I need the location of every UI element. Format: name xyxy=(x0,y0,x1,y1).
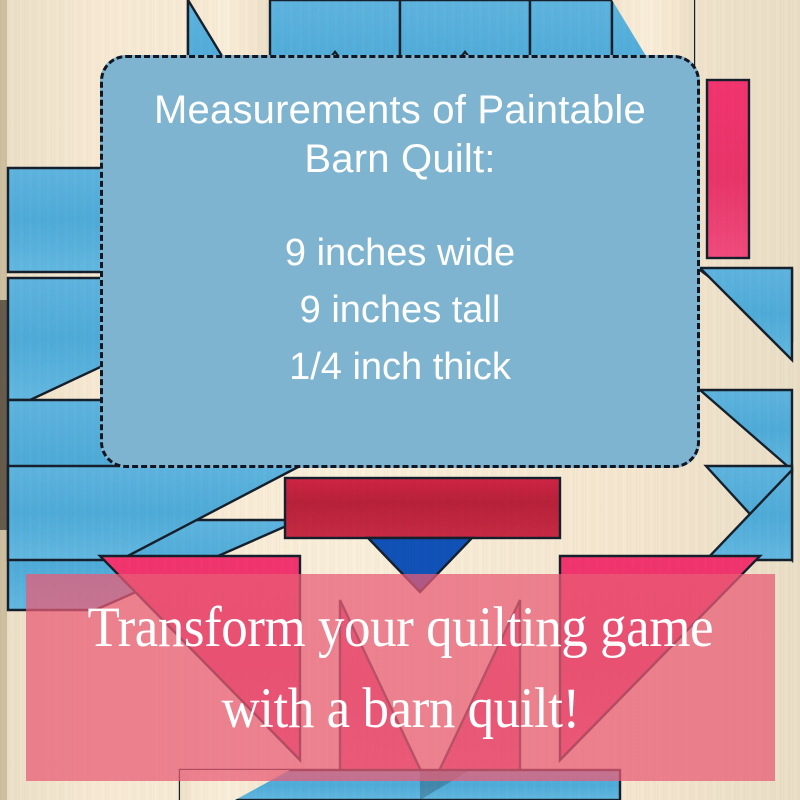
quilt-piece-pink-bar-right xyxy=(707,80,749,258)
measurement-width: 9 inches wide xyxy=(285,226,515,281)
info-card-title: Measurements of Paintable Barn Quilt: xyxy=(154,86,646,184)
promo-line-1: Transform your quilting game xyxy=(88,588,714,669)
measurements-list: 9 inches wide 9 inches tall 1/4 inch thi… xyxy=(285,226,515,395)
measurement-thickness: 1/4 inch thick xyxy=(289,340,511,395)
promo-line-2: with a barn quilt! xyxy=(221,669,579,750)
quilt-piece-crimson-bar xyxy=(285,478,560,538)
promo-banner: Transform your quilting game with a barn… xyxy=(26,574,775,781)
poster-canvas: Measurements of Paintable Barn Quilt: 9 … xyxy=(0,0,800,800)
measurement-height: 9 inches tall xyxy=(300,283,501,338)
info-card-title-line-1: Measurements of Paintable xyxy=(154,88,646,132)
info-card-title-line-2: Barn Quilt: xyxy=(304,137,495,181)
measurements-info-card: Measurements of Paintable Barn Quilt: 9 … xyxy=(100,55,700,468)
